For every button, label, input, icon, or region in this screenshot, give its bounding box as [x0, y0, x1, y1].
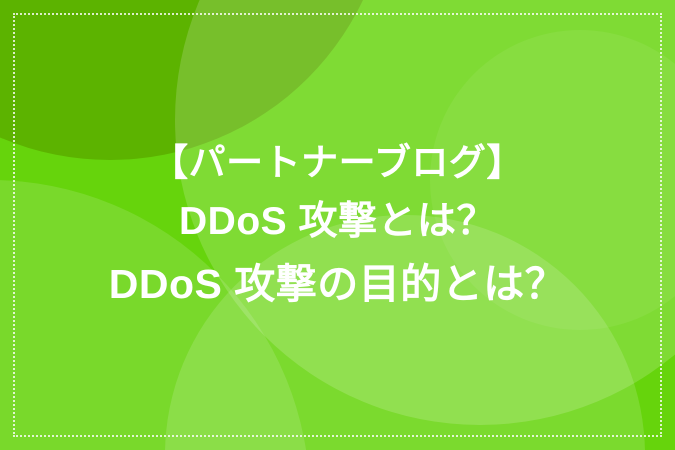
banner-title-block: 【パートナーブログ】 DDoS 攻撃とは？ DDoS 攻撃の目的とは？ [0, 0, 675, 450]
banner-title-line-2: DDoS 攻撃とは？ [179, 200, 496, 245]
banner-title-line-3: DDoS 攻撃の目的とは？ [109, 261, 567, 308]
blog-title-banner: 【パートナーブログ】 DDoS 攻撃とは？ DDoS 攻撃の目的とは？ [0, 0, 675, 450]
banner-title-line-1: 【パートナーブログ】 [151, 142, 524, 185]
